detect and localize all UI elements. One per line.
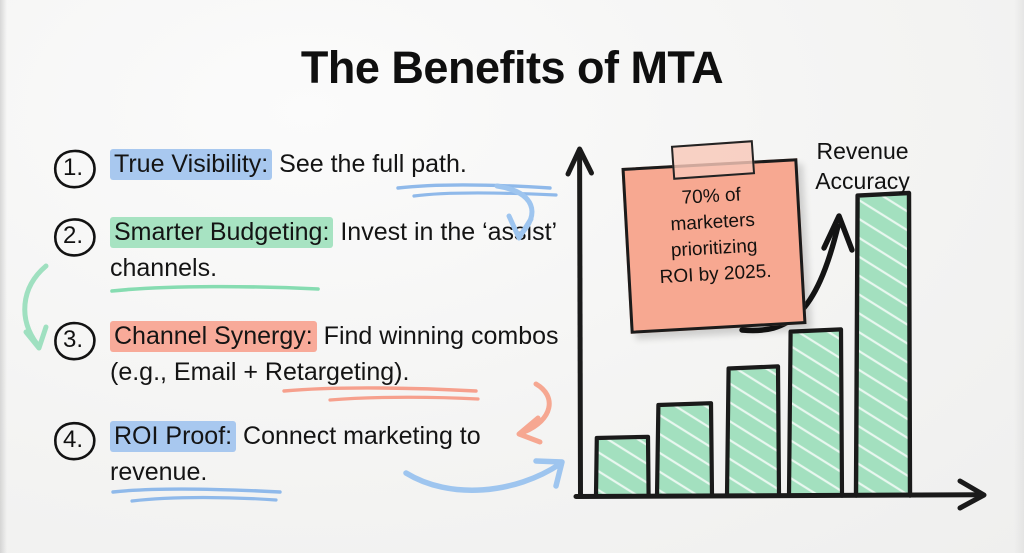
chart-annotation-line-1: Revenue (795, 136, 930, 166)
bar-5 (856, 193, 910, 496)
chart-annotation-label: Revenue Accuracy (795, 136, 930, 196)
y-axis (568, 149, 592, 496)
bar-2 (657, 403, 712, 495)
bar-1 (596, 437, 649, 496)
arrow-red-down-left-item3 (519, 384, 549, 442)
sticky-note-tape (671, 140, 755, 180)
arrow-blue-up-right-to-chart (406, 461, 562, 490)
chart-annotation-line-2: Accuracy (795, 166, 930, 196)
sticky-note[interactable]: 70% of marketers prioritizing ROI by 202… (622, 158, 807, 334)
arrow-green-down-left-item2 (25, 266, 46, 348)
bar-4 (789, 329, 842, 495)
arrow-blue-down-right-item1 (497, 186, 532, 238)
bar-3 (727, 366, 779, 495)
whiteboard-canvas: The Benefits of MTA 1. True Visibility: … (0, 0, 1024, 553)
sticky-note-text: 70% of marketers prioritizing ROI by 202… (626, 179, 802, 292)
